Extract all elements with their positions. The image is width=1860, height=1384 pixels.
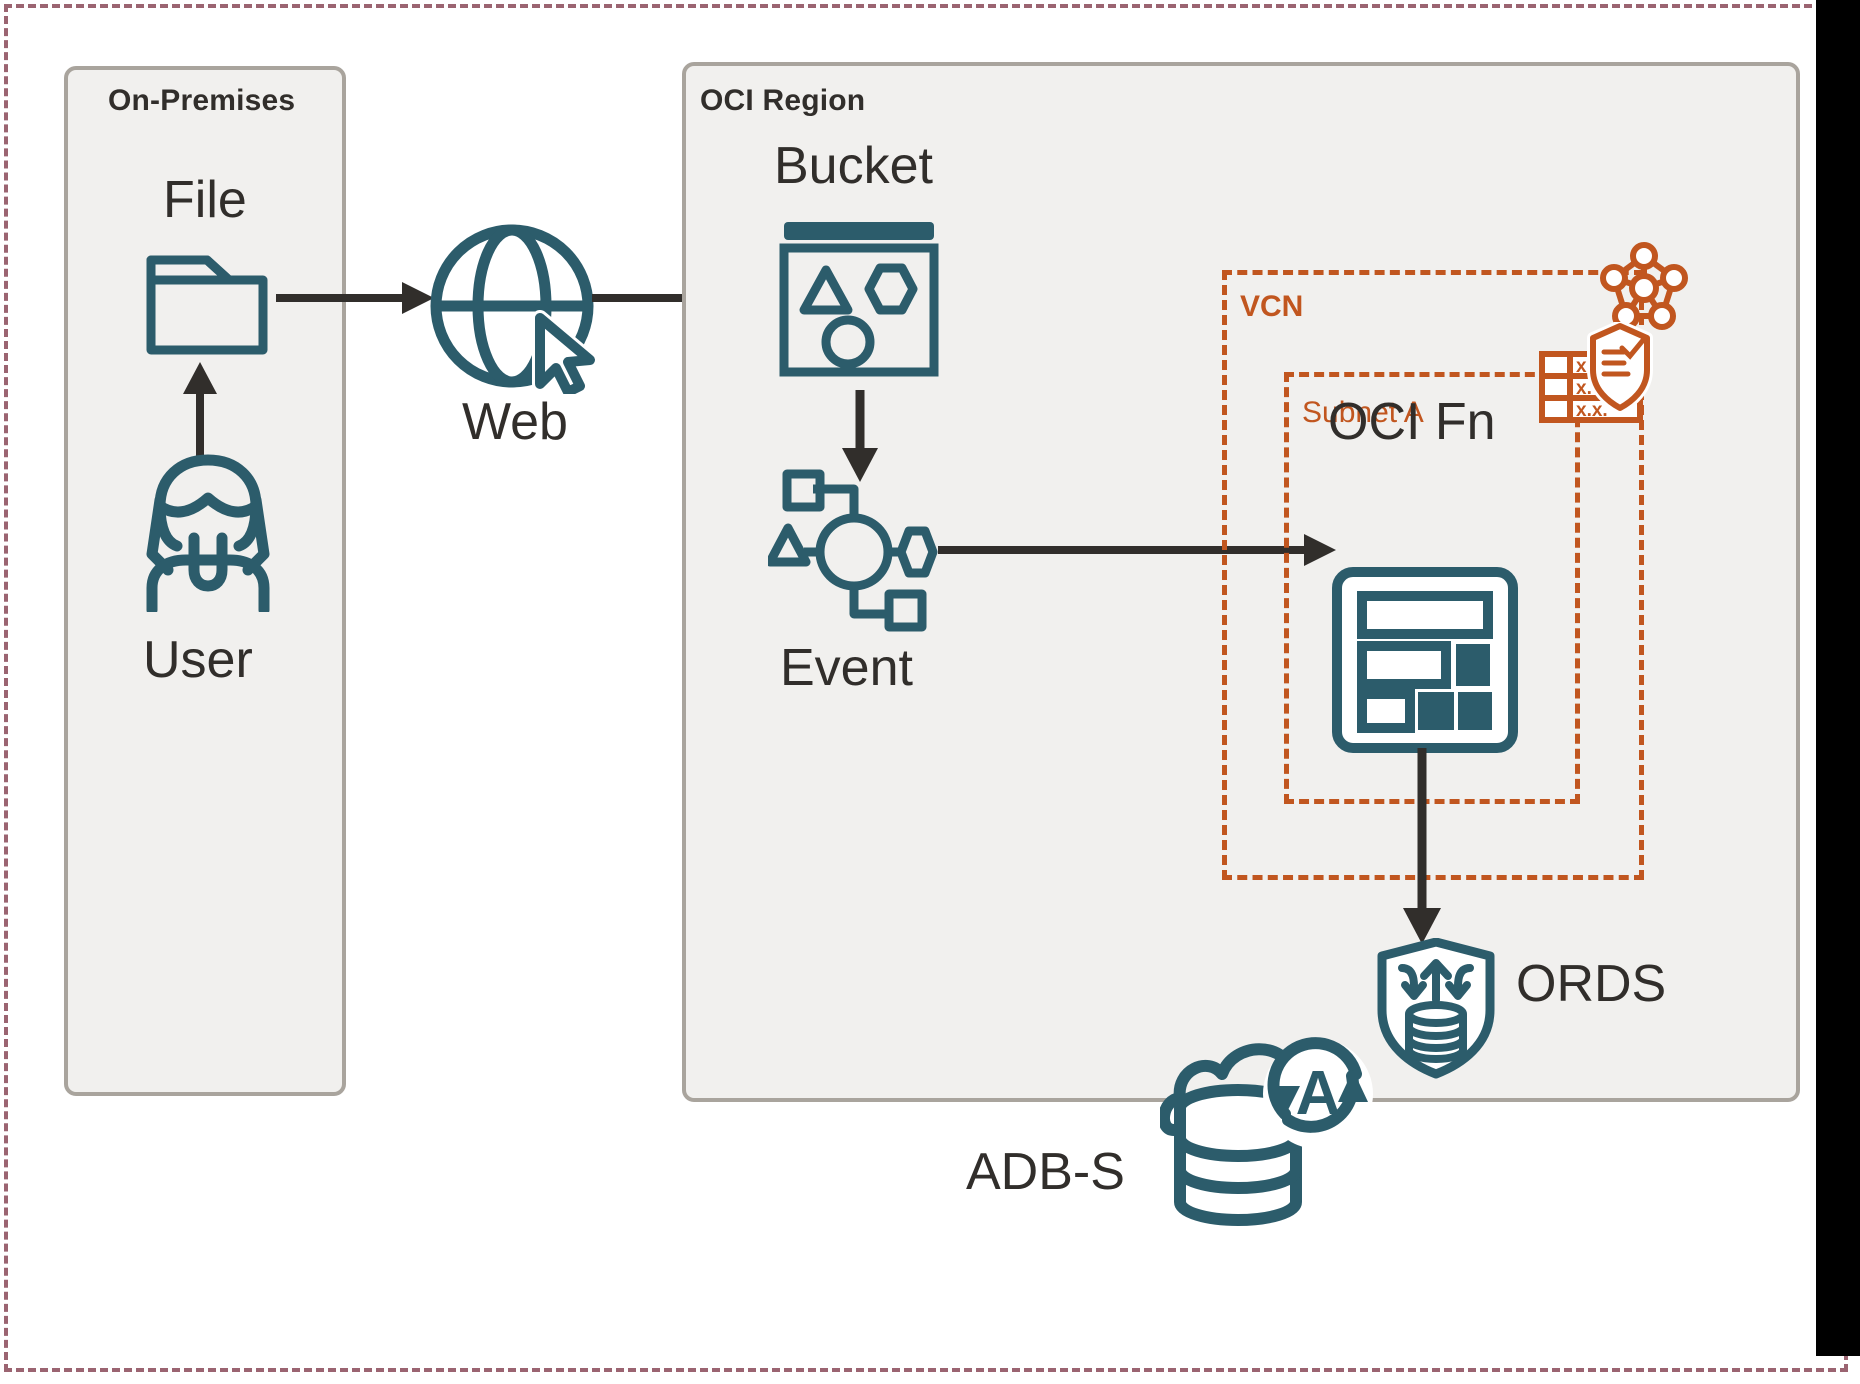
node-label-ords: ORDS — [1516, 958, 1666, 1010]
user-icon — [128, 450, 288, 612]
node-label-bucket: Bucket — [774, 140, 933, 192]
node-label-ocifn: OCI Fn — [1328, 396, 1496, 448]
diagram-canvas: On-Premises File User — [0, 0, 1860, 1384]
arrow-file-to-web — [276, 278, 436, 318]
node-label-event: Event — [780, 642, 913, 694]
events-service-icon — [768, 466, 940, 638]
group-on-premises-title: On-Premises — [108, 84, 295, 118]
security-list-shield-icon: x.x.x.x. — [1536, 322, 1658, 430]
arrow-user-to-file — [180, 360, 220, 460]
node-label-file: File — [163, 174, 247, 226]
right-black-strip — [1816, 0, 1860, 1356]
object-storage-bucket-icon — [778, 218, 940, 378]
node-label-web: Web — [462, 396, 568, 448]
arrow-ocifn-to-ords — [1400, 748, 1444, 948]
node-label-adbs: ADB-S — [966, 1146, 1125, 1198]
ords-shield-database-icon — [1374, 938, 1498, 1080]
folder-icon — [145, 248, 269, 358]
web-globe-cursor-icon — [428, 222, 600, 394]
svg-text:A: A — [1296, 1059, 1341, 1128]
functions-icon — [1330, 566, 1520, 754]
group-oci-region-title: OCI Region — [700, 84, 865, 118]
node-label-user: User — [143, 634, 253, 686]
zone-vcn-label: VCN — [1240, 290, 1303, 324]
autonomous-database-cloud-icon: A — [1160, 1022, 1388, 1240]
